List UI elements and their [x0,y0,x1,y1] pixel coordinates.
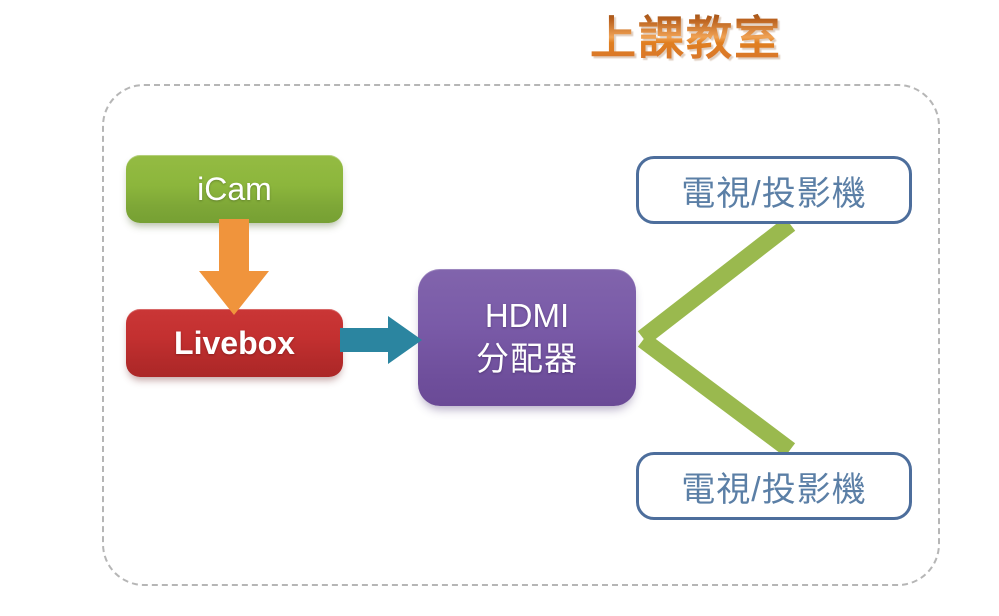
teal-right-arrow-icon [0,0,999,616]
node-display-bottom-label: 電視/投影機 [681,462,866,511]
node-display-bottom[interactable]: 電視/投影機 [636,452,912,520]
diagram-canvas: 上課教室 上課教室 iCam Livebox HDMI 分配器 電視/投影機 電… [0,0,999,616]
node-display-top-label: 電視/投影機 [681,166,866,215]
node-display-top[interactable]: 電視/投影機 [636,156,912,224]
